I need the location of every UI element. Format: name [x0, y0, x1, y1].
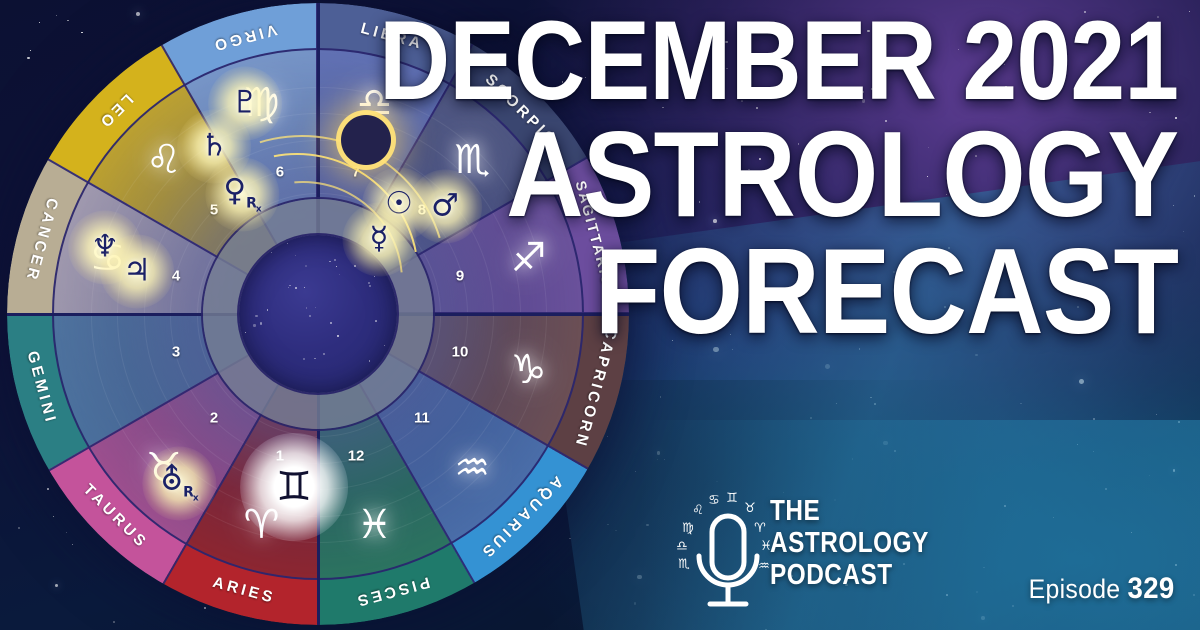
planet-moon: ♊ — [276, 467, 312, 507]
episode-number: 329 — [1127, 572, 1174, 605]
svg-text:♒: ♒ — [758, 559, 770, 574]
thumbnail-canvas: ARIESTAURUSGEMINICANCERLEOVIRGOLIBRASCOR… — [0, 0, 1200, 630]
svg-text:♍: ♍ — [682, 521, 694, 536]
planet-jupiter: ♃ — [123, 256, 151, 287]
logo-line-1: THE — [770, 496, 929, 528]
logo-text: THE ASTROLOGY PODCAST — [770, 496, 929, 592]
title-line-3: FORECAST — [379, 234, 1178, 349]
planet-saturn: ♄ — [200, 131, 228, 162]
svg-text:♉: ♉ — [744, 501, 756, 516]
title-line-2: ASTROLOGY — [379, 117, 1178, 232]
episode-badge: Episode 329 — [1028, 572, 1174, 606]
podcast-logo: ♌♋ ♊♉ ♍♎ ♏ ♈♓ ♒ THE ASTROLOGY PODCAST — [650, 478, 950, 623]
page-title: DECEMBER 2021 ASTROLOGY FORECAST — [270, 8, 1178, 349]
svg-text:♊: ♊ — [726, 491, 738, 506]
episode-label: Episode — [1028, 574, 1120, 604]
logo-line-2: ASTROLOGY — [770, 528, 929, 560]
planet-pluto: ♇ — [231, 88, 259, 119]
svg-text:♏: ♏ — [678, 557, 690, 572]
logo-line-3: PODCAST — [770, 560, 929, 592]
planet-venus: ♀Rx — [223, 176, 260, 215]
title-line-1: DECEMBER 2021 — [379, 8, 1178, 113]
svg-text:♋: ♋ — [708, 493, 720, 508]
svg-text:♈: ♈ — [754, 521, 766, 536]
svg-text:♎: ♎ — [676, 539, 688, 554]
planet-uranus: ⛢Rx — [160, 465, 197, 504]
svg-text:♌: ♌ — [692, 503, 704, 518]
